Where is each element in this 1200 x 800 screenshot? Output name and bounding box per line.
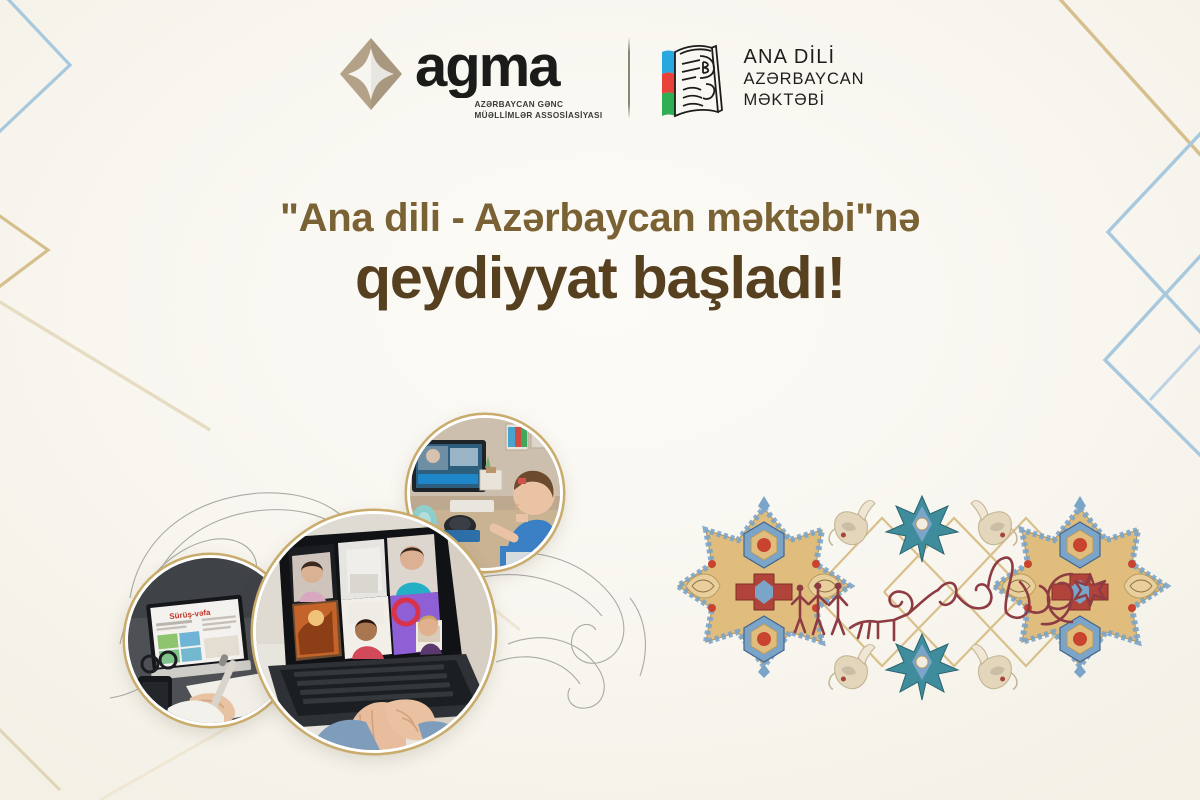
ana-dili-line-2: AZƏRBAYCAN [743,70,864,89]
photo-laptop-video-lesson-image [256,514,492,750]
logo-divider [628,37,630,119]
logo-bar: agma AZƏRBAYCAN GƏNC MÜƏLLİMLƏR ASSOSİAS… [0,34,1200,122]
agma-wordmark: agma [415,38,593,98]
ornament-buta-top-right [971,501,1017,546]
headline-line-1: "Ana dili - Azərbaycan məktəbi"nə [0,196,1200,241]
ornament-rosette-top [886,496,958,562]
ana-dili-book-mark-icon [656,34,732,122]
agma-subtitle: AZƏRBAYCAN GƏNC MÜƏLLİMLƏR ASSOSİASİYASI [475,100,603,122]
chevron-right-blue-3 [1150,330,1200,400]
ana-dili-logo[interactable]: ANA DİLİ AZƏRBAYCAN MƏKTƏBİ [656,34,864,122]
carpet-ornament-graphic [672,462,1172,720]
ana-dili-line-1: ANA DİLİ [743,47,864,68]
photo-cluster: Sürüş-vəfa [120,418,630,768]
ana-dili-text: ANA DİLİ AZƏRBAYCAN MƏKTƏBİ [743,47,864,110]
svg-text:agma: agma [415,38,561,98]
ana-dili-line-3: MƏKTƏBİ [743,91,864,110]
ornament-buta-bottom-right [971,645,1017,690]
ornament-buta-top-left [829,501,875,546]
poster-canvas: agma AZƏRBAYCAN GƏNC MÜƏLLİMLƏR ASSOSİAS… [0,0,1200,800]
headline-line-2: qeydiyyat başladı! [0,247,1200,311]
ornament-medallion-left [678,496,850,678]
agma-logo[interactable]: agma AZƏRBAYCAN GƏNC MÜƏLLİMLƏR ASSOSİAS… [336,34,603,122]
azerbaijani-carpet-ornament [672,462,1172,720]
agma-diamond-mark-icon [336,34,406,114]
headline-block: "Ana dili - Azərbaycan məktəbi"nə qeydiy… [0,196,1200,311]
agma-wordmark-glyphs: agma [415,38,593,98]
chevron-bottom-left-beige [0,290,210,430]
chevron-bottom-left-beige-2 [0,700,60,790]
ornament-rosette-bottom [886,634,958,700]
photo-laptop-video-lesson [256,514,492,750]
ornament-buta-bottom-left [829,645,875,690]
